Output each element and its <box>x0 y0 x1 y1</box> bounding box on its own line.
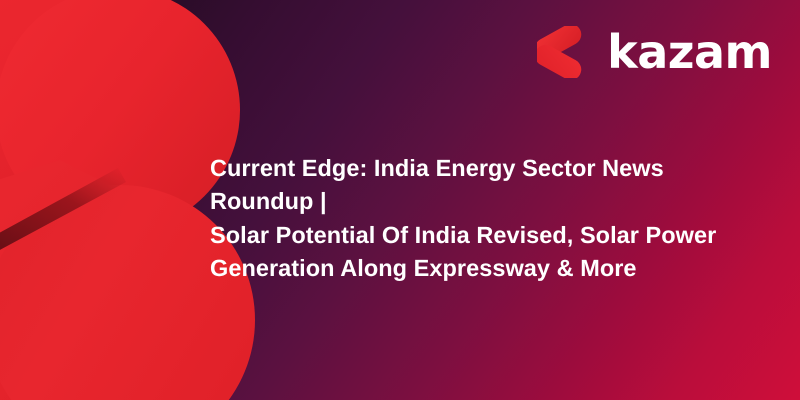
kazam-logo[interactable]: kazam <box>537 26 772 78</box>
chevron-upper-capsule <box>0 0 240 232</box>
kazam-wordmark: kazam <box>607 29 772 75</box>
kazam-chevron-icon <box>537 26 593 78</box>
page-title: Current Edge: India Energy Sector News R… <box>210 152 770 285</box>
chevron-seam-line <box>0 168 126 252</box>
kazam-article-banner: kazam Current Edge: India Energy Sector … <box>0 0 800 400</box>
